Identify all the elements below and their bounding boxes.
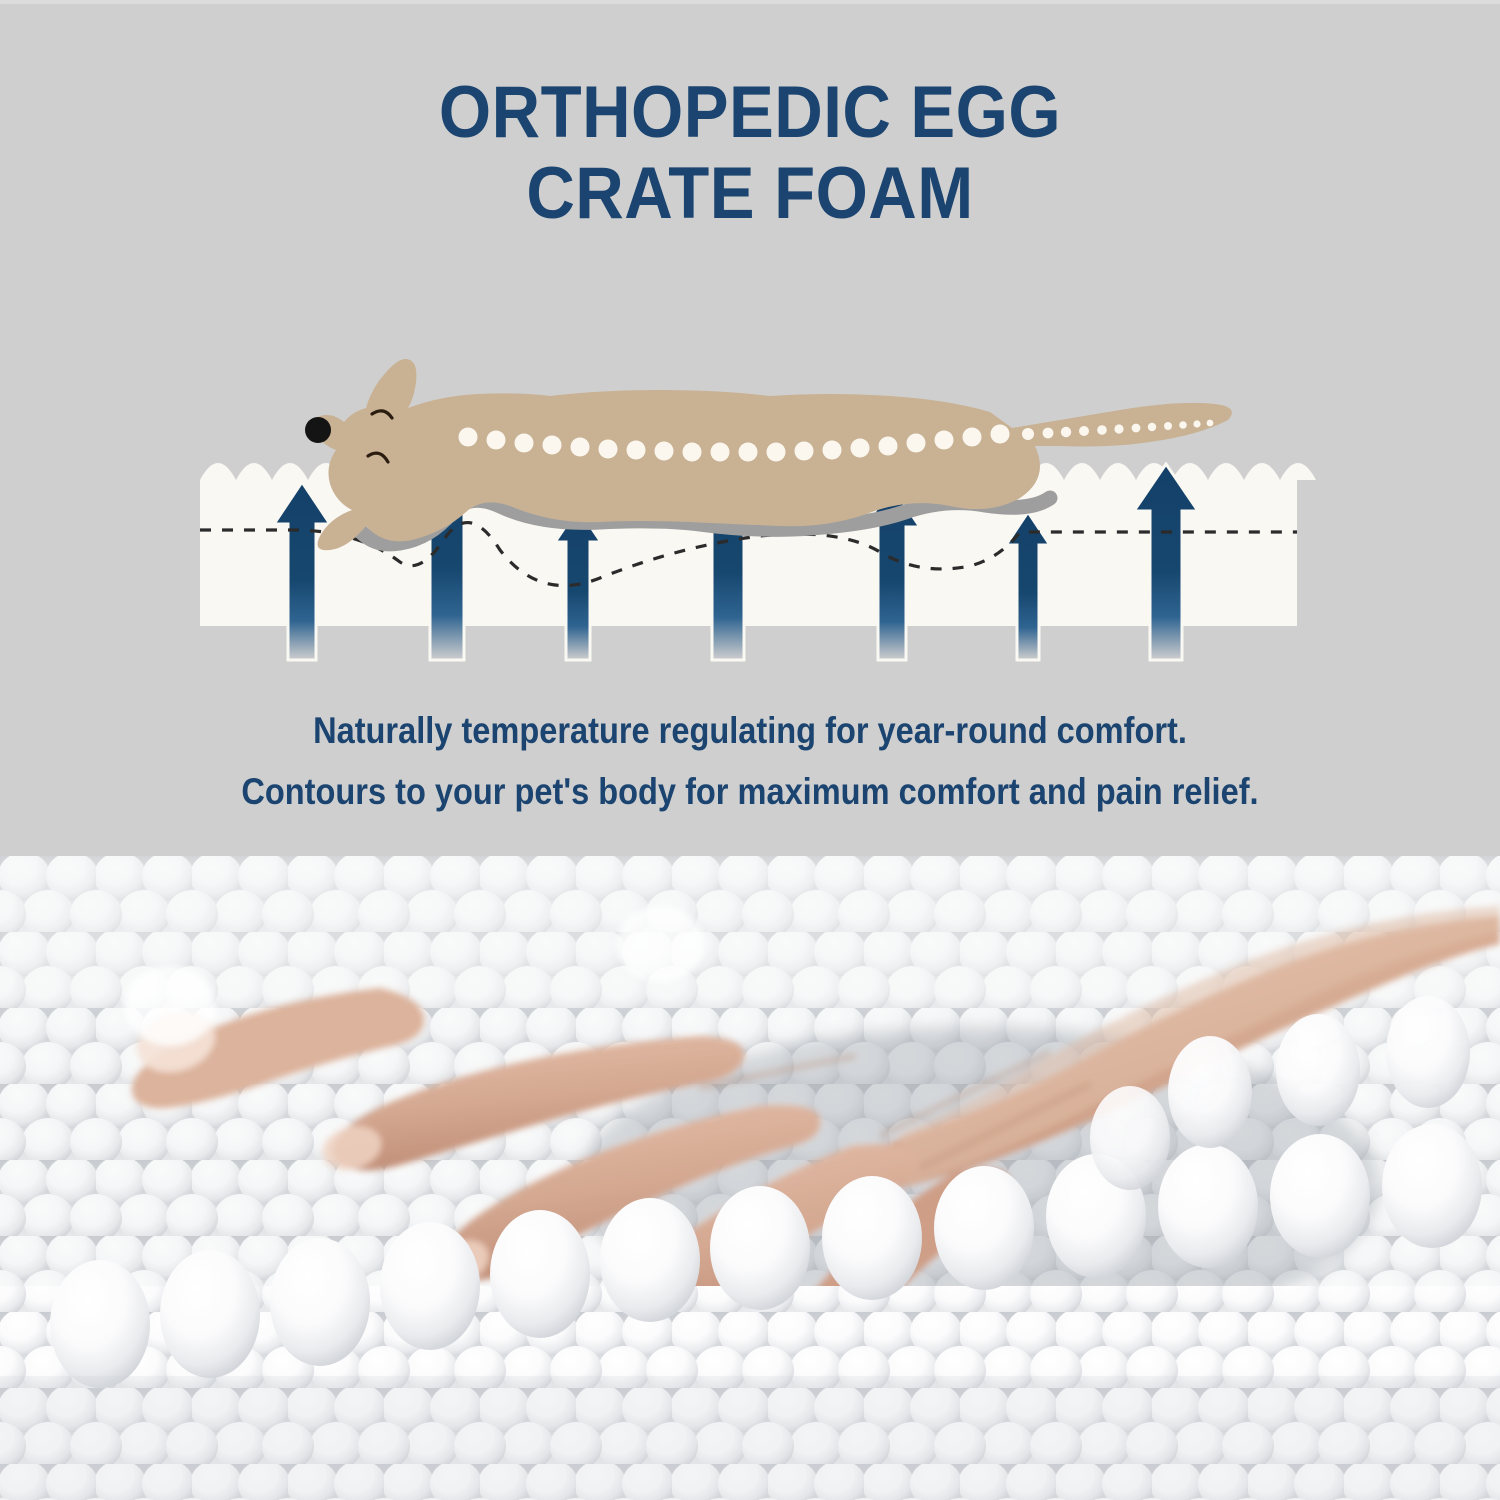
dog-nose — [305, 417, 331, 443]
foam-support-diagram — [0, 300, 1500, 690]
hand-pressing-foam-photo — [0, 856, 1500, 1500]
subtitle-line-2: Contours to your pet's body for maximum … — [90, 761, 1410, 822]
foam-bottom-vignette — [0, 1376, 1500, 1500]
page-title: ORTHOPEDIC EGG CRATE FOAM — [60, 72, 1440, 234]
subtitle-line-1: Naturally temperature regulating for yea… — [90, 700, 1410, 761]
top-info-panel: ORTHOPEDIC EGG CRATE FOAM — [0, 0, 1500, 856]
subtitle-block: Naturally temperature regulating for yea… — [90, 700, 1410, 822]
top-hairline-divider — [0, 0, 1500, 4]
product-infographic: ORTHOPEDIC EGG CRATE FOAM — [0, 0, 1500, 1500]
